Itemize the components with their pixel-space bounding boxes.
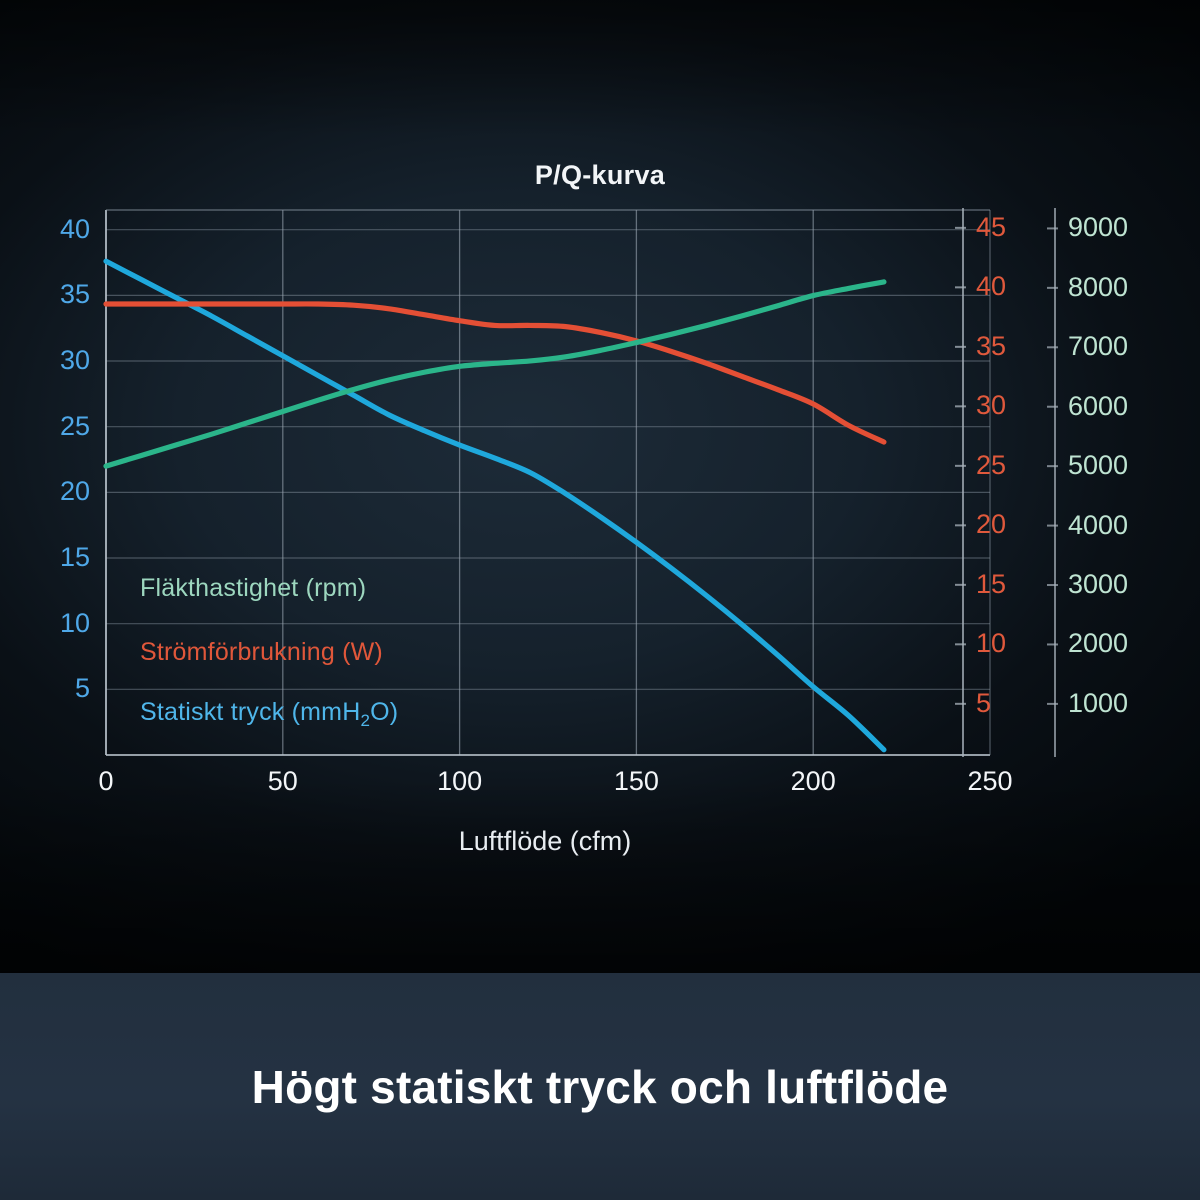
legend-label: Fläkthastighet (rpm) <box>140 574 366 602</box>
y-axis-green-tick: 8000 <box>1068 274 1188 301</box>
y-axis-left-tick: 25 <box>16 413 90 440</box>
y-axis-left-tick: 5 <box>16 675 90 702</box>
series-line-left <box>106 261 884 750</box>
y-axis-left-tick: 15 <box>16 544 90 571</box>
y-axis-green-tick: 3000 <box>1068 571 1188 598</box>
y-axis-left-tick: 10 <box>16 610 90 637</box>
y-axis-green-tick: 4000 <box>1068 512 1188 539</box>
y-axis-red-tick: 40 <box>976 273 1046 300</box>
y-axis-red-tick: 5 <box>976 690 1046 717</box>
y-axis-left-tick: 30 <box>16 347 90 374</box>
y-axis-red-tick: 30 <box>976 392 1046 419</box>
axis-spines <box>106 208 1058 757</box>
y-axis-left-tick: 40 <box>16 216 90 243</box>
y-axis-red-tick: 10 <box>976 630 1046 657</box>
legend-label: Strömförbrukning (W) <box>140 638 383 666</box>
pq-curve-chart: P/Q-kurva 510152025303540510152025303540… <box>0 0 1200 973</box>
y-axis-red-tick: 45 <box>976 214 1046 241</box>
x-axis-tick: 150 <box>586 768 686 795</box>
x-axis-tick: 250 <box>940 768 1040 795</box>
y-axis-green-tick: 6000 <box>1068 393 1188 420</box>
y-axis-left-tick: 20 <box>16 478 90 505</box>
legend-label-subscript: 2 <box>360 711 370 730</box>
x-axis-tick: 100 <box>410 768 510 795</box>
y-axis-green-tick: 9000 <box>1068 214 1188 241</box>
legend-item-fan_speed[interactable]: Fläkthastighet (rpm) <box>140 574 366 603</box>
x-axis-tick: 0 <box>56 768 156 795</box>
y-axis-green-tick: 1000 <box>1068 690 1188 717</box>
y-axis-red-tick: 25 <box>976 452 1046 479</box>
legend-label-suffix: O) <box>370 698 398 726</box>
legend-label: Statiskt tryck (mmH <box>140 698 360 726</box>
caption-banner: Högt statiskt tryck och luftflöde <box>0 973 1200 1200</box>
y-axis-green-tick: 5000 <box>1068 452 1188 479</box>
series-line-right_green <box>106 282 884 466</box>
y-axis-green-tick: 7000 <box>1068 333 1188 360</box>
x-axis-tick: 50 <box>233 768 333 795</box>
y-axis-red-tick: 20 <box>976 511 1046 538</box>
screenshot-root: P/Q-kurva 510152025303540510152025303540… <box>0 0 1200 1200</box>
series-lines <box>106 261 884 750</box>
y-axis-red-tick: 35 <box>976 333 1046 360</box>
legend-item-pressure_pre[interactable]: Statiskt tryck (mmH2O) <box>140 698 398 731</box>
x-axis-tick: 200 <box>763 768 863 795</box>
caption-text: Högt statiskt tryck och luftflöde <box>252 1060 949 1114</box>
y-axis-red-tick: 15 <box>976 571 1046 598</box>
y-axis-left-tick: 35 <box>16 281 90 308</box>
legend-item-power[interactable]: Strömförbrukning (W) <box>140 638 383 667</box>
y-axis-green-tick: 2000 <box>1068 630 1188 657</box>
x-axis-title: Luftflöde (cfm) <box>0 826 1090 857</box>
